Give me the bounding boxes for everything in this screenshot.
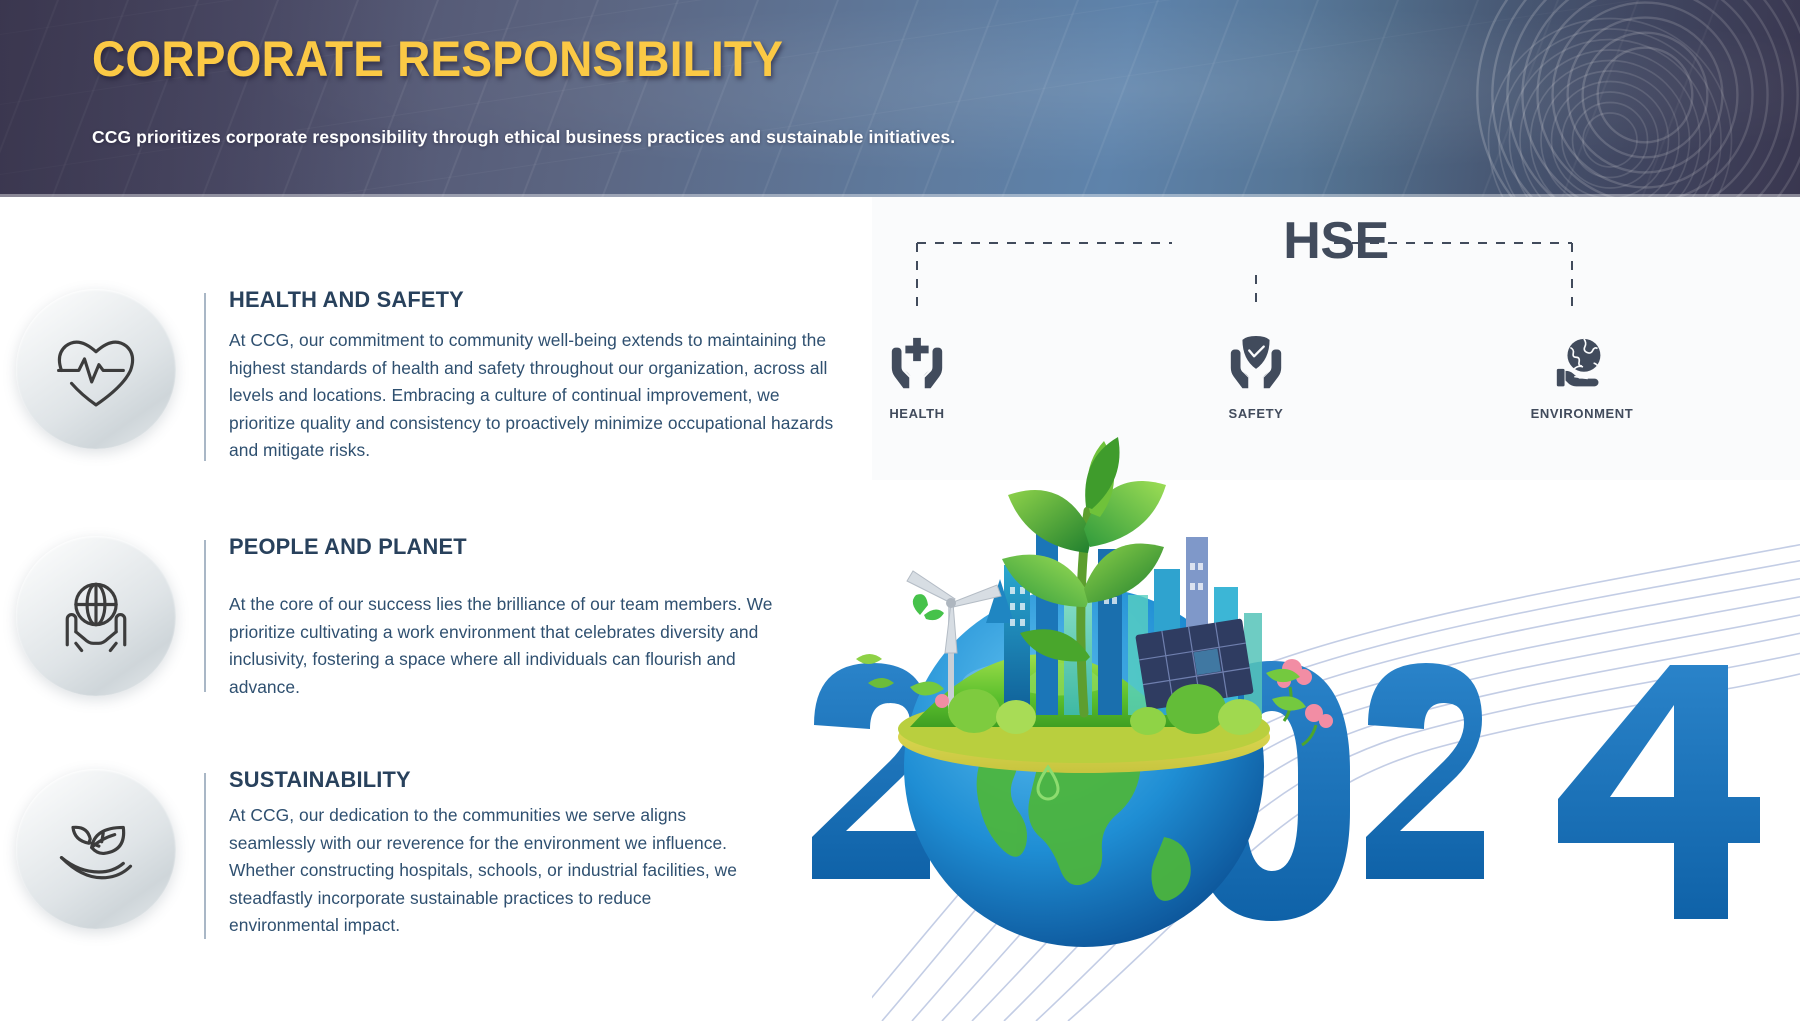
page-subtitle: CCG prioritizes corporate responsibility… bbox=[92, 127, 955, 148]
feature-divider-rule bbox=[204, 293, 206, 461]
feature-divider-rule bbox=[204, 540, 206, 692]
features-column: HEALTH AND SAFETY At CCG, our commitment… bbox=[0, 197, 872, 1021]
feature-title: PEOPLE AND PLANET bbox=[229, 534, 772, 560]
visual-column: HSE HEALTH bbox=[872, 197, 1800, 1021]
heart-pulse-icon bbox=[16, 289, 176, 449]
hse-node-health: HEALTH bbox=[817, 334, 1017, 421]
leaf-in-hand-icon bbox=[16, 769, 176, 929]
hand-earth-icon bbox=[1549, 334, 1615, 396]
butterfly-icon bbox=[913, 594, 944, 620]
feature-health-and-safety: HEALTH AND SAFETY At CCG, our commitment… bbox=[0, 283, 872, 465]
hse-node-label: SAFETY bbox=[1156, 406, 1356, 421]
page-title: CORPORATE RESPONSIBILITY bbox=[92, 30, 783, 88]
hands-shield-check-icon bbox=[1223, 334, 1289, 396]
hse-node-safety: SAFETY bbox=[1156, 334, 1356, 421]
feature-description: At the core of our success lies the bril… bbox=[229, 591, 789, 701]
page-header: CORPORATE RESPONSIBILITY CCG prioritizes… bbox=[0, 0, 1800, 197]
hse-node-environment: ENVIRONMENT bbox=[1482, 334, 1682, 421]
feature-description: At CCG, our commitment to community well… bbox=[229, 327, 849, 465]
feature-people-and-planet: PEOPLE AND PLANET At the core of our suc… bbox=[0, 530, 872, 701]
corporate-responsibility-page: CORPORATE RESPONSIBILITY CCG prioritizes… bbox=[0, 0, 1800, 1021]
feature-description: At CCG, our dedication to the communitie… bbox=[229, 802, 759, 940]
feature-sustainability: SUSTAINABILITY At CCG, our dedication to… bbox=[0, 763, 872, 940]
globe-in-hands-icon bbox=[16, 536, 176, 696]
feature-title: HEALTH AND SAFETY bbox=[229, 287, 830, 313]
hands-medical-cross-icon bbox=[884, 334, 950, 396]
eco-2024-illustration bbox=[792, 437, 1800, 1021]
hse-node-label: ENVIRONMENT bbox=[1482, 406, 1682, 421]
feature-divider-rule bbox=[204, 773, 206, 939]
hse-node-label: HEALTH bbox=[817, 406, 1017, 421]
feature-title: SUSTAINABILITY bbox=[229, 767, 743, 793]
